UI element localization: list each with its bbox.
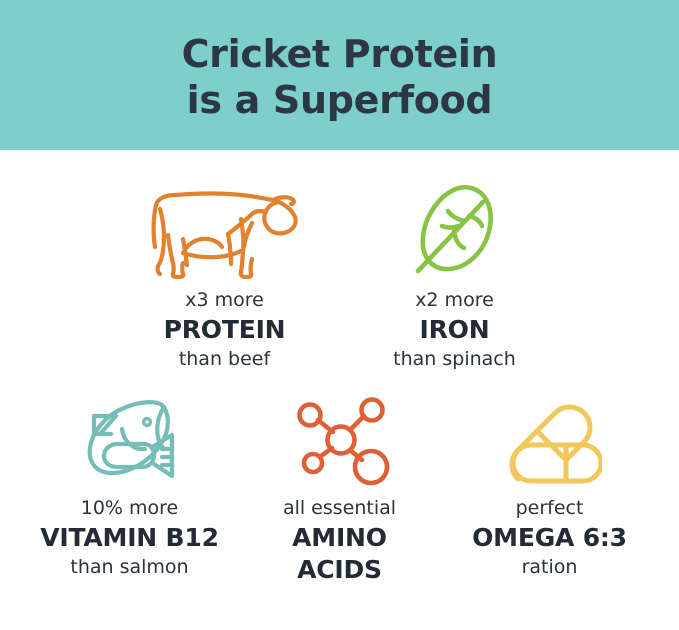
fact-labels-amino-acids: all essential AMINO ACIDS bbox=[283, 491, 396, 586]
fact-post-label: ration bbox=[472, 554, 627, 581]
fish-icon bbox=[75, 391, 185, 491]
fact-main-label-line-2: ACIDS bbox=[283, 554, 396, 586]
fact-card-protein: x3 more PROTEIN than beef bbox=[110, 176, 340, 373]
fact-labels-omega: perfect OMEGA 6:3 ration bbox=[472, 491, 627, 581]
fact-pre-label: x2 more bbox=[393, 287, 516, 314]
facts-row-top: x3 more PROTEIN than beef bbox=[0, 150, 679, 373]
fact-post-label: than spinach bbox=[393, 346, 516, 373]
page-title-line-2: is a Superfood bbox=[187, 77, 493, 123]
facts-row-bottom: 10% more VITAMIN B12 than salmon bbox=[0, 373, 679, 586]
fact-main-label: AMINO bbox=[283, 522, 396, 554]
molecule-icon bbox=[285, 391, 395, 491]
fact-pre-label: 10% more bbox=[40, 495, 219, 522]
fact-post-label: than beef bbox=[164, 346, 286, 373]
fact-pre-label: all essential bbox=[283, 495, 396, 522]
fact-card-omega: perfect OMEGA 6:3 ration bbox=[445, 391, 655, 581]
fact-card-iron: x2 more IRON than spinach bbox=[340, 176, 570, 373]
fact-pre-label: x3 more bbox=[164, 287, 286, 314]
fact-main-label: PROTEIN bbox=[164, 314, 286, 346]
fact-main-label: IRON bbox=[393, 314, 516, 346]
fact-labels-protein: x3 more PROTEIN than beef bbox=[164, 281, 286, 373]
fact-card-vitamin-b12: 10% more VITAMIN B12 than salmon bbox=[25, 391, 235, 581]
fact-card-amino-acids: all essential AMINO ACIDS bbox=[235, 391, 445, 586]
cow-icon bbox=[140, 176, 310, 281]
page-title-line-1: Cricket Protein bbox=[182, 31, 498, 77]
facts-grid: x3 more PROTEIN than beef bbox=[0, 150, 679, 586]
leaf-icon bbox=[400, 176, 510, 281]
fact-post-label: than salmon bbox=[40, 554, 219, 581]
fact-pre-label: perfect bbox=[472, 495, 627, 522]
fact-labels-vitamin-b12: 10% more VITAMIN B12 than salmon bbox=[40, 491, 219, 581]
capsule-icon bbox=[495, 391, 605, 491]
fact-main-label: VITAMIN B12 bbox=[40, 522, 219, 554]
header-banner: Cricket Protein is a Superfood bbox=[0, 0, 679, 150]
fact-main-label: OMEGA 6:3 bbox=[472, 522, 627, 554]
fact-labels-iron: x2 more IRON than spinach bbox=[393, 281, 516, 373]
